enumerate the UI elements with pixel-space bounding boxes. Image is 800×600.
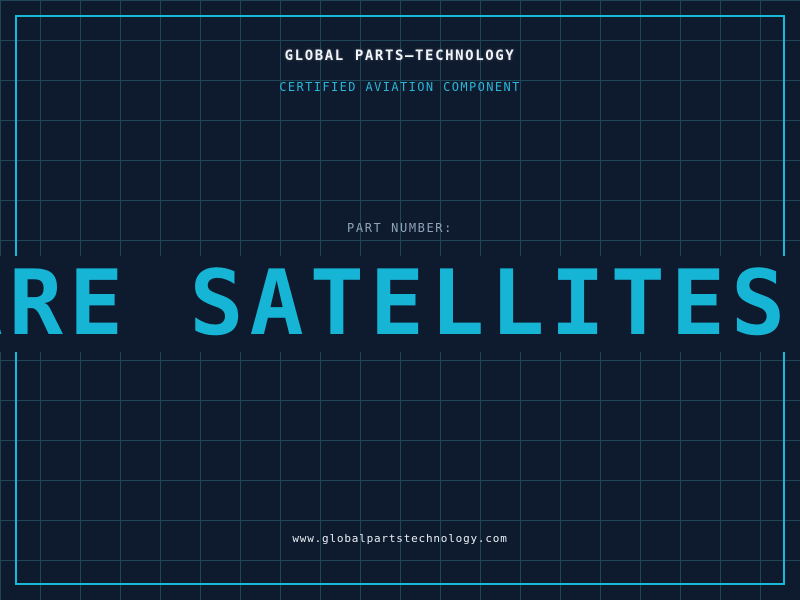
brand-title: GLOBAL PARTS—TECHNOLOGY bbox=[0, 46, 800, 66]
header-block: GLOBAL PARTS—TECHNOLOGY CERTIFIED AVIATI… bbox=[0, 46, 800, 96]
brand-subtitle: CERTIFIED AVIATION COMPONENT bbox=[0, 78, 800, 96]
blueprint-part-card: GLOBAL PARTS—TECHNOLOGY CERTIFIED AVIATI… bbox=[0, 0, 800, 600]
footer-website-url: www.globalpartstechnology.com bbox=[0, 531, 800, 546]
part-number-value: N ARE SATELLITES MA bbox=[0, 256, 800, 352]
part-number-band: N ARE SATELLITES MA bbox=[0, 256, 800, 352]
part-number-label: PART NUMBER: bbox=[0, 220, 800, 236]
